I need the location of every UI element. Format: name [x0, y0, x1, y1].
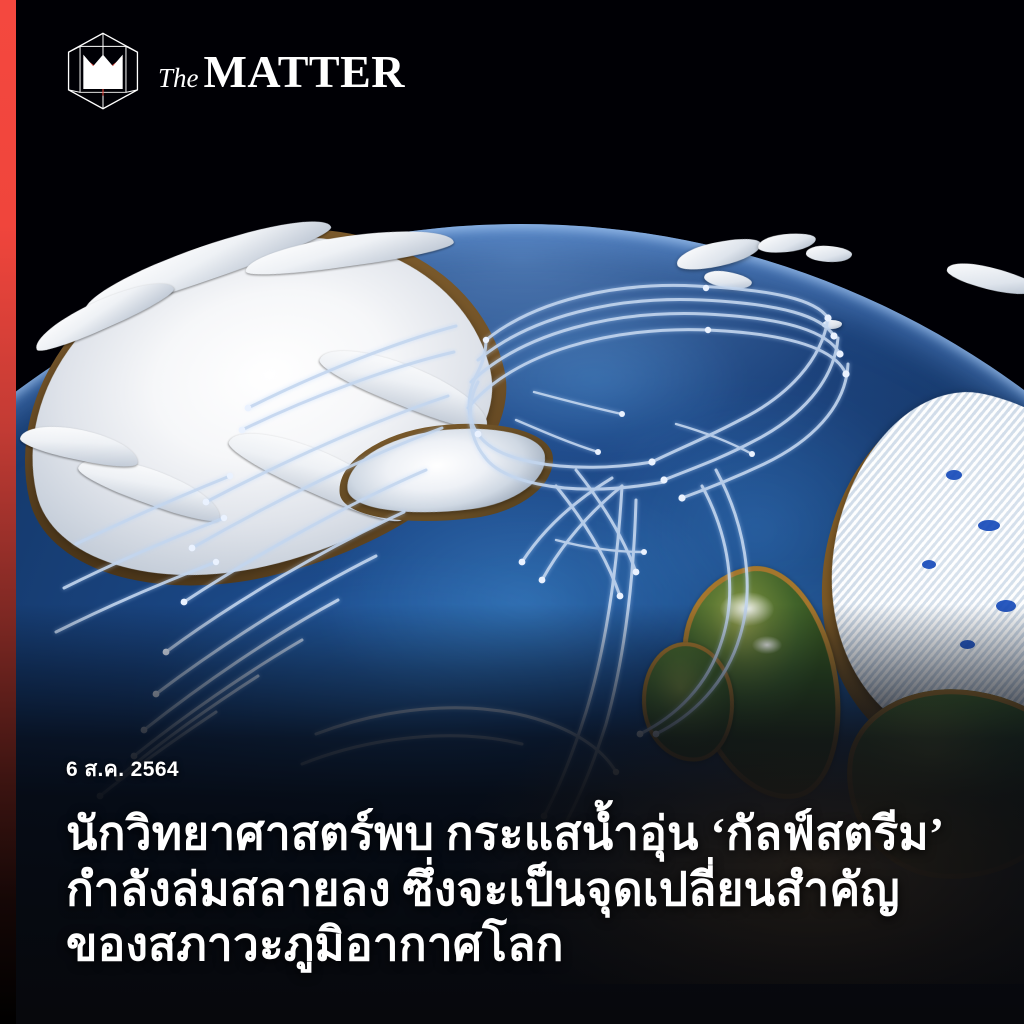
the-matter-logo[interactable]: The MATTER: [62, 30, 405, 112]
publish-date: 6 ส.ค. 2564: [66, 753, 984, 786]
logo-the-text: The: [158, 63, 199, 94]
logo-matter-text: MATTER: [204, 45, 406, 98]
headline-line-3: ของสภาวะภูมิอากาศโลก: [66, 917, 984, 972]
arctic-island: [805, 244, 852, 263]
brand-accent-rail: [0, 0, 16, 1024]
fjord-lake: [922, 560, 936, 569]
headline-line-1: นักวิทยาศาสตร์พบ กระแสน้ำอุ่น ‘กัลฟ์สตรี…: [66, 806, 984, 861]
logo-wordmark: The MATTER: [158, 45, 405, 98]
hexagon-cube-book-logo-icon: [62, 30, 144, 112]
headline-line-2: กำลังล่มสลายลง ซึ่งจะเป็นจุดเปลี่ยนสำคัญ: [66, 862, 984, 917]
fjord-lake: [978, 520, 1000, 531]
social-media-card: The MATTER 6 ส.ค. 2564 นักวิทยาศาสตร์พบ …: [0, 0, 1024, 1024]
caption-block: 6 ส.ค. 2564 นักวิทยาศาสตร์พบ กระแสน้ำอุ่…: [66, 753, 984, 972]
headline: นักวิทยาศาสตร์พบ กระแสน้ำอุ่น ‘กัลฟ์สตรี…: [66, 806, 984, 972]
fjord-lake: [946, 470, 962, 480]
arctic-island: [945, 257, 1024, 301]
